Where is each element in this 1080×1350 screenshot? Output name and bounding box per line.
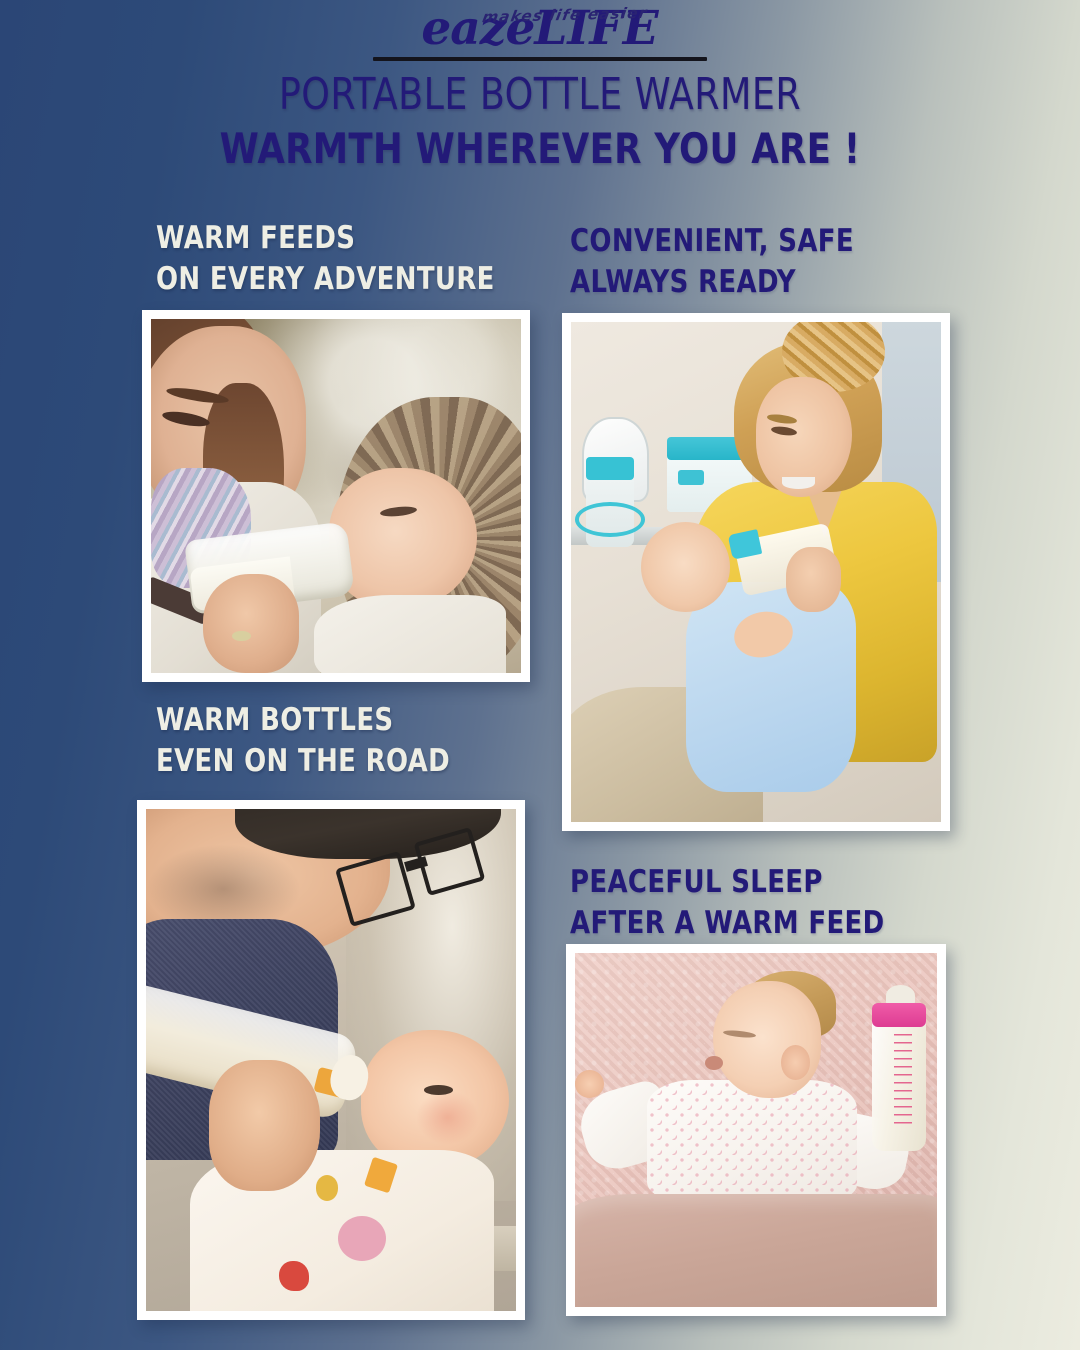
father-hand bbox=[209, 1060, 320, 1191]
baby-blanket bbox=[314, 595, 506, 673]
bottle-measure-scale bbox=[894, 1034, 912, 1126]
baby-cheek bbox=[416, 1090, 479, 1145]
photo-peaceful-sleep bbox=[566, 944, 946, 1316]
page-title-line2: WARMTH WHEREVER YOU ARE ! bbox=[32, 128, 1047, 170]
baby-head bbox=[713, 981, 822, 1098]
baby-face bbox=[329, 468, 477, 610]
sterilizer-latch bbox=[678, 470, 704, 485]
bottle-handles bbox=[575, 502, 645, 537]
baby-mouth bbox=[705, 1056, 723, 1070]
page-header: makes life easier eazeLIFE PORTABLE BOTT… bbox=[0, 0, 1080, 170]
onesie-pattern-red bbox=[279, 1261, 309, 1291]
brand-logo: makes life easier eazeLIFE bbox=[421, 0, 658, 55]
mother-hand bbox=[203, 574, 299, 673]
mother-smile bbox=[782, 477, 815, 489]
covering-blanket bbox=[575, 1194, 937, 1307]
onesie-pattern-circle bbox=[338, 1216, 386, 1261]
caption-convenient-safe: CONVENIENT, SAFE ALWAYS READY bbox=[570, 221, 854, 303]
photo-convenient-safe bbox=[562, 313, 950, 831]
mother-hand bbox=[786, 547, 842, 612]
sleepsuit-dot-pattern bbox=[647, 1080, 857, 1200]
photo-warm-bottles-image bbox=[146, 809, 516, 1311]
photo-warm-bottles bbox=[137, 800, 525, 1320]
photo-convenient-safe-image bbox=[571, 322, 941, 822]
baby-head bbox=[641, 522, 730, 612]
wedding-ring bbox=[232, 631, 251, 642]
shelf-bottle-cap bbox=[586, 457, 634, 480]
caption-warm-bottles: WARM BOTTLES EVEN ON THE ROAD bbox=[156, 700, 450, 782]
onesie-pattern-yellow bbox=[316, 1175, 338, 1200]
caption-peaceful-sleep: PEACEFUL SLEEP AFTER A WARM FEED bbox=[570, 862, 885, 944]
page-title-line1: PORTABLE BOTTLE WARMER bbox=[43, 73, 1037, 117]
photo-warm-feeds bbox=[142, 310, 530, 682]
photo-warm-feeds-image bbox=[151, 319, 521, 673]
logo-divider bbox=[373, 57, 707, 61]
baby-fist bbox=[575, 1070, 604, 1098]
bottle-pink-cap bbox=[872, 1003, 926, 1028]
photo-peaceful-sleep-image bbox=[575, 953, 937, 1307]
caption-warm-feeds: WARM FEEDS ON EVERY ADVENTURE bbox=[156, 218, 495, 300]
